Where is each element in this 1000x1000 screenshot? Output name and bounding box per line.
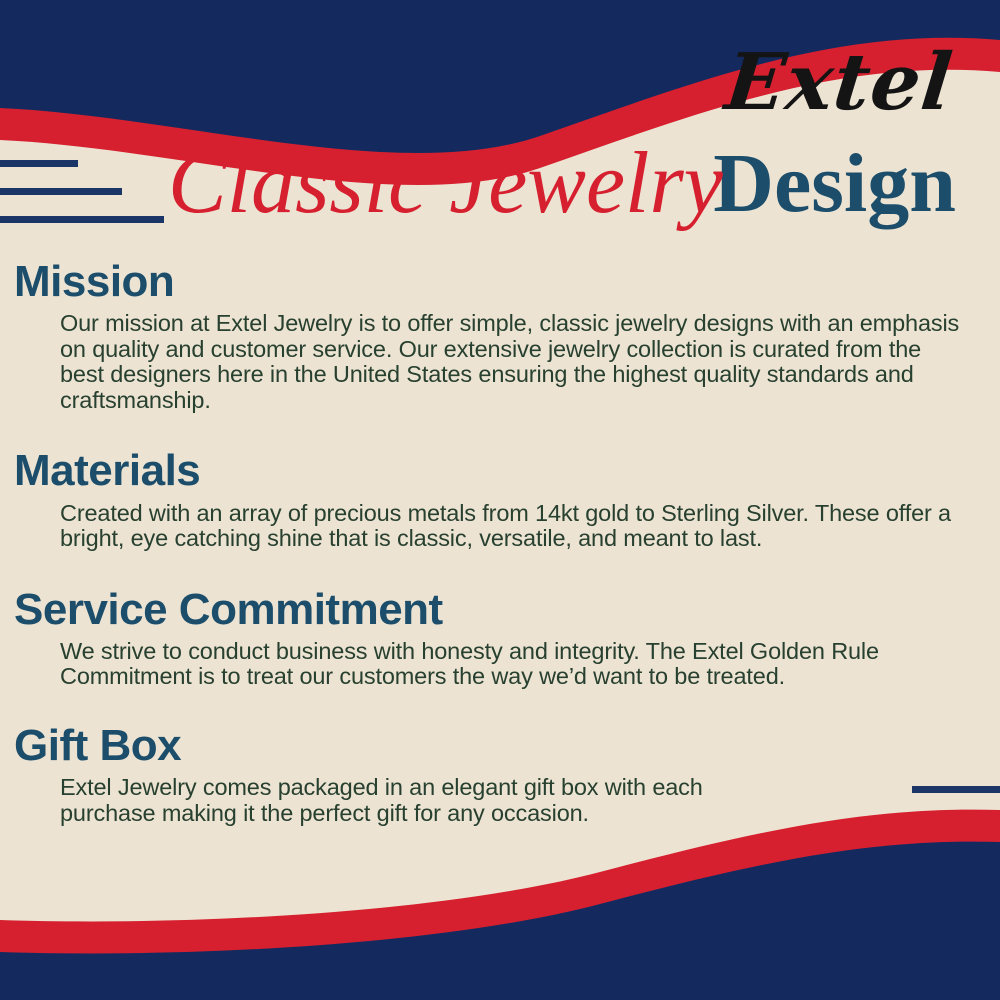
- decorative-rule-line: [866, 816, 1000, 823]
- section-body-mission: Our mission at Extel Jewelry is to offer…: [60, 311, 966, 413]
- decorative-rule-line: [822, 846, 1000, 853]
- section-paragraph: Extel Jewelry comes packaged in an elega…: [60, 775, 750, 826]
- decorative-rule-line: [912, 786, 1000, 793]
- section-title-materials: Materials: [14, 445, 1000, 496]
- section-body-materials: Created with an array of precious metals…: [60, 501, 966, 552]
- section-mission: Mission Our mission at Extel Jewelry is …: [0, 256, 1000, 413]
- content-column: Mission Our mission at Extel Jewelry is …: [0, 252, 1000, 844]
- brand-design-wordmark: Design: [713, 142, 956, 226]
- masthead: Extel Design Classic Jewelry: [0, 0, 1000, 250]
- section-service-commitment: Service Commitment We strive to conduct …: [0, 584, 1000, 690]
- section-title-service-commitment: Service Commitment: [14, 584, 1000, 635]
- poster-canvas: Extel Design Classic Jewelry Mission Our…: [0, 0, 1000, 1000]
- section-title-gift-box: Gift Box: [14, 720, 1000, 771]
- right-decorative-rules: [822, 786, 1000, 876]
- section-materials: Materials Created with an array of preci…: [0, 445, 1000, 551]
- section-body-service-commitment: We strive to conduct business with hones…: [60, 639, 966, 690]
- section-paragraph: Created with an array of precious metals…: [60, 501, 966, 552]
- page-title: Classic Jewelry: [168, 140, 723, 228]
- section-title-mission: Mission: [14, 256, 1000, 307]
- section-paragraph: We strive to conduct business with hones…: [60, 639, 966, 690]
- brand-script-wordmark: Extel: [722, 44, 956, 122]
- section-body-gift-box: Extel Jewelry comes packaged in an elega…: [60, 775, 750, 826]
- section-paragraph: Our mission at Extel Jewelry is to offer…: [60, 311, 966, 413]
